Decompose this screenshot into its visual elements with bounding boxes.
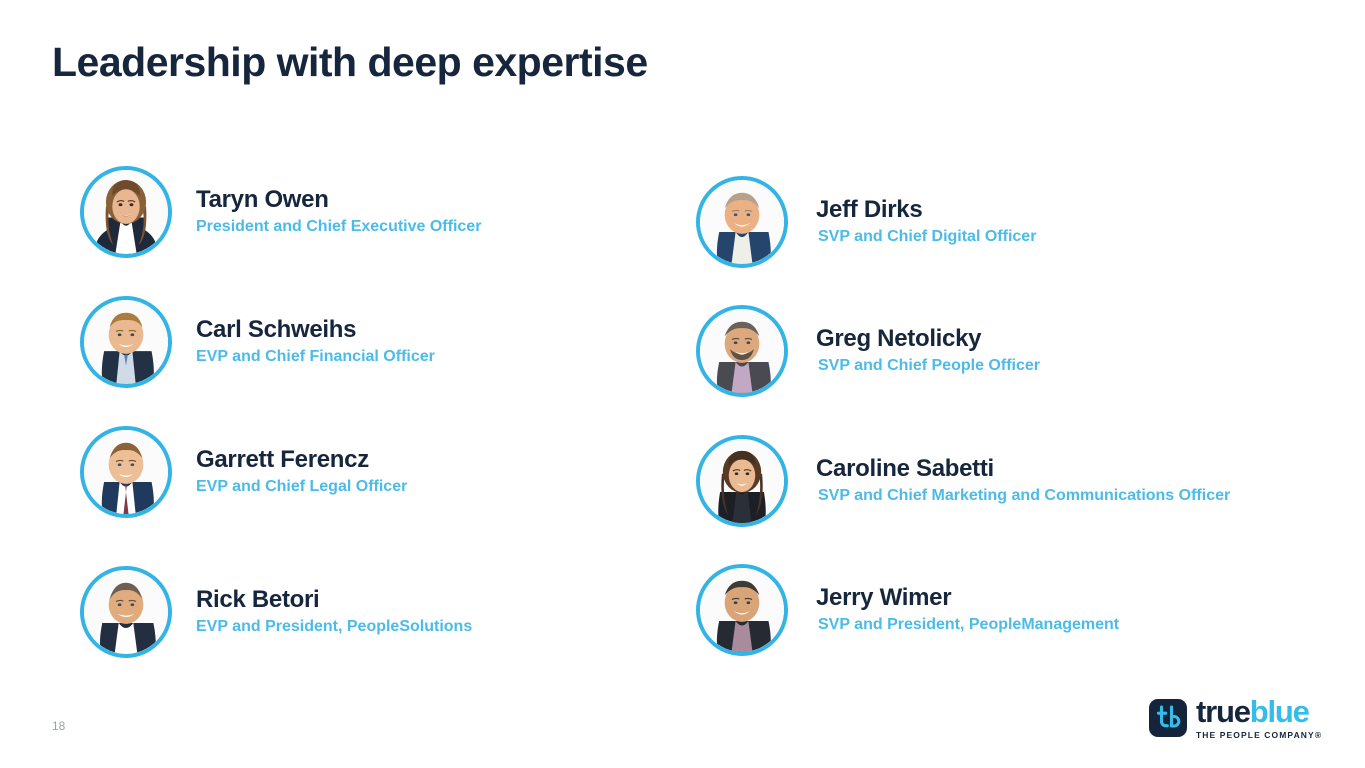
leader-title: President and Chief Executive Officer xyxy=(196,217,481,238)
leader-title: SVP and Chief People Officer xyxy=(818,356,1040,377)
portrait-caroline-sabetti xyxy=(700,439,784,523)
leader-name: Jerry Wimer xyxy=(816,584,1119,612)
leader-name: Carl Schweihs xyxy=(196,316,435,344)
avatar xyxy=(696,305,788,397)
leader-name: Taryn Owen xyxy=(196,186,481,214)
page-title: Leadership with deep expertise xyxy=(52,40,648,85)
leader-name: Greg Netolicky xyxy=(816,325,1040,353)
leadership-column-right: Jeff Dirks SVP and Chief Digital Officer xyxy=(696,160,1336,656)
portrait-taryn-owen xyxy=(84,170,168,254)
leader-title: EVP and President, PeopleSolutions xyxy=(196,617,472,638)
leader-text: Jerry Wimer SVP and President, PeopleMan… xyxy=(816,584,1119,635)
portrait-rick-betori xyxy=(84,570,168,654)
leader-text: Jeff Dirks SVP and Chief Digital Officer xyxy=(816,196,1036,247)
trueblue-mark-icon xyxy=(1149,699,1187,737)
avatar xyxy=(80,426,172,518)
leader-card[interactable]: Caroline Sabetti SVP and Chief Marketing… xyxy=(696,435,1336,527)
portrait-greg-netolicky xyxy=(700,309,784,393)
leader-card[interactable]: Garrett Ferencz EVP and Chief Legal Offi… xyxy=(80,426,680,518)
leader-text: Rick Betori EVP and President, PeopleSol… xyxy=(196,586,472,637)
leader-name: Rick Betori xyxy=(196,586,472,614)
logo-word-blue: blue xyxy=(1250,694,1309,729)
leader-title: SVP and Chief Marketing and Communicatio… xyxy=(818,486,1230,507)
leader-title: SVP and President, PeopleManagement xyxy=(818,615,1119,636)
leader-title: EVP and Chief Legal Officer xyxy=(196,477,407,498)
logo-tagline: THE PEOPLE COMPANY® xyxy=(1196,730,1322,740)
leader-text: Garrett Ferencz EVP and Chief Legal Offi… xyxy=(196,446,407,497)
portrait-jeff-dirks xyxy=(700,180,784,264)
avatar xyxy=(80,566,172,658)
leader-card[interactable]: Greg Netolicky SVP and Chief People Offi… xyxy=(696,305,1336,397)
trueblue-wordmark: trueblue THE PEOPLE COMPANY® xyxy=(1196,696,1322,740)
leader-name: Caroline Sabetti xyxy=(816,455,1230,483)
slide: Leadership with deep expertise xyxy=(0,0,1365,768)
page-number: 18 xyxy=(52,719,65,733)
avatar xyxy=(696,435,788,527)
trueblue-logo: trueblue THE PEOPLE COMPANY® xyxy=(1149,696,1322,740)
avatar xyxy=(80,166,172,258)
portrait-garrett-ferencz xyxy=(84,430,168,514)
leader-title: EVP and Chief Financial Officer xyxy=(196,347,435,368)
leader-text: Carl Schweihs EVP and Chief Financial Of… xyxy=(196,316,435,367)
leader-text: Greg Netolicky SVP and Chief People Offi… xyxy=(816,325,1040,376)
avatar xyxy=(696,176,788,268)
portrait-jerry-wimer xyxy=(700,568,784,652)
leader-text: Taryn Owen President and Chief Executive… xyxy=(196,186,481,237)
logo-word-true: true xyxy=(1196,694,1250,729)
leader-card[interactable]: Carl Schweihs EVP and Chief Financial Of… xyxy=(80,296,680,388)
leader-name: Garrett Ferencz xyxy=(196,446,407,474)
leader-card[interactable]: Jeff Dirks SVP and Chief Digital Officer xyxy=(696,176,1336,268)
leadership-column-left: Taryn Owen President and Chief Executive… xyxy=(80,160,680,658)
leader-card[interactable]: Rick Betori EVP and President, PeopleSol… xyxy=(80,566,680,658)
leader-title: SVP and Chief Digital Officer xyxy=(818,227,1036,248)
leader-text: Caroline Sabetti SVP and Chief Marketing… xyxy=(816,455,1230,506)
leader-card[interactable]: Taryn Owen President and Chief Executive… xyxy=(80,166,680,258)
portrait-carl-schweihs xyxy=(84,300,168,384)
avatar xyxy=(80,296,172,388)
leader-card[interactable]: Jerry Wimer SVP and President, PeopleMan… xyxy=(696,564,1336,656)
avatar xyxy=(696,564,788,656)
leader-name: Jeff Dirks xyxy=(816,196,1036,224)
